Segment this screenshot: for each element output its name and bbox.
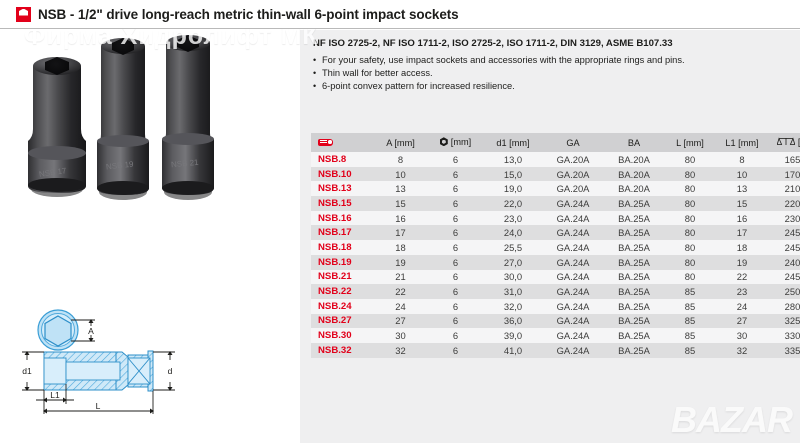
cell-ba: BA.20A [603,167,665,182]
cell-weight: 230 [769,211,800,226]
cell-a: 18 [373,240,428,255]
cell-a: 24 [373,299,428,314]
cell-hex: 6 [428,255,483,270]
page-title: NSB - 1/2" drive long-reach metric thin-… [38,7,459,22]
cell-a: 32 [373,343,428,358]
cell-a: 22 [373,284,428,299]
cell-d1: 24,0 [483,225,543,240]
column-header-hex: [mm] [428,133,483,152]
cell-l1: 30 [715,328,769,343]
cell-ba: BA.25A [603,299,665,314]
cell-a: 8 [373,152,428,167]
cell-weight: 245 [769,240,800,255]
cell-l: 85 [665,314,715,329]
cell-hex: 6 [428,299,483,314]
feature-list: For your safety, use impact sockets and … [313,54,793,94]
cell-l: 80 [665,270,715,285]
cell-d1: 31,0 [483,284,543,299]
cell-ga: GA.24A [543,255,603,270]
cell-l1: 15 [715,196,769,211]
cell-ga: GA.24A [543,299,603,314]
cell-a: 13 [373,181,428,196]
feature-item: For your safety, use impact sockets and … [313,54,793,67]
table-row[interactable]: NSB.88613,0GA.20ABA.20A808165 [311,152,800,167]
cell-reference: NSB.15 [311,196,373,211]
cell-l1: 32 [715,343,769,358]
table-row[interactable]: NSB.2727636,0GA.24ABA.25A8527325 [311,314,800,329]
cell-l1: 18 [715,240,769,255]
cell-hex: 6 [428,343,483,358]
cell-a: 16 [373,211,428,226]
cell-d1: 13,0 [483,152,543,167]
cell-weight: 245 [769,225,800,240]
cell-ba: BA.25A [603,211,665,226]
table-row[interactable]: NSB.2121630,0GA.24ABA.25A8022245 [311,270,800,285]
cell-l: 85 [665,299,715,314]
cell-ga: GA.24A [543,225,603,240]
column-header-l1: L1 [mm] [715,133,769,152]
cell-reference: NSB.32 [311,343,373,358]
cell-weight: 165 [769,152,800,167]
cell-reference: NSB.13 [311,181,373,196]
cell-ga: GA.24A [543,211,603,226]
table-row[interactable]: NSB.1616623,0GA.24ABA.25A8016230 [311,211,800,226]
specification-table: A [mm] [mm] d1 [mm] GA BA L [mm] L1 [mm] [311,133,800,358]
cell-d1: 25,5 [483,240,543,255]
cell-ga: GA.24A [543,328,603,343]
cell-ba: BA.25A [603,225,665,240]
cell-weight: 240 [769,255,800,270]
cell-hex: 6 [428,240,483,255]
column-header-hex-label: [mm] [451,137,471,147]
cell-weight: 210 [769,181,800,196]
table-header-row: A [mm] [mm] d1 [mm] GA BA L [mm] L1 [mm] [311,133,800,152]
cell-l1: 27 [715,314,769,329]
product-photo: NSB 17 NSB 19 NSB 21 [0,29,300,229]
cell-hex: 6 [428,314,483,329]
weight-scale-icon [777,137,795,146]
table-row[interactable]: NSB.1919627,0GA.24ABA.25A8019240 [311,255,800,270]
cell-ba: BA.20A [603,152,665,167]
cell-l: 85 [665,328,715,343]
cell-reference: NSB.30 [311,328,373,343]
dimension-diagram: A d1 [0,300,300,420]
cell-l: 80 [665,240,715,255]
cell-ga: GA.24A [543,343,603,358]
cell-l1: 17 [715,225,769,240]
cell-reference: NSB.10 [311,167,373,182]
cell-ba: BA.20A [603,181,665,196]
table-row[interactable]: NSB.2222631,0GA.24ABA.25A8523250 [311,284,800,299]
feature-item: Thin wall for better access. [313,67,793,80]
cell-ba: BA.25A [603,196,665,211]
column-header-weight: [g] [769,133,800,152]
title-bar: NSB - 1/2" drive long-reach metric thin-… [0,0,800,29]
column-header-l: L [mm] [665,133,715,152]
cell-ba: BA.25A [603,255,665,270]
cell-hex: 6 [428,270,483,285]
cell-l1: 22 [715,270,769,285]
cell-weight: 250 [769,284,800,299]
cell-weight: 220 [769,196,800,211]
table-row[interactable]: NSB.2424632,0GA.24ABA.25A8524280 [311,299,800,314]
dimension-label-d1: d1 [22,366,32,376]
cell-hex: 6 [428,152,483,167]
cell-ga: GA.20A [543,152,603,167]
cell-ga: GA.20A [543,167,603,182]
socket-photo-2: NSB 19 [97,38,149,200]
column-header-d1: d1 [mm] [483,133,543,152]
dimension-label-L1: L1 [50,390,60,400]
cell-d1: 30,0 [483,270,543,285]
cell-ba: BA.25A [603,314,665,329]
cell-l: 80 [665,211,715,226]
catalog-page: NSB - 1/2" drive long-reach metric thin-… [0,0,800,443]
cell-hex: 6 [428,196,483,211]
cell-ga: GA.20A [543,181,603,196]
table-row[interactable]: NSB.1515622,0GA.24ABA.25A8015220 [311,196,800,211]
cell-ga: GA.24A [543,196,603,211]
cell-l: 80 [665,225,715,240]
cell-l: 80 [665,255,715,270]
cell-ga: GA.24A [543,284,603,299]
cell-reference: NSB.19 [311,255,373,270]
cell-reference: NSB.27 [311,314,373,329]
column-header-ga: GA [543,133,603,152]
socket-reference-icon [318,139,333,146]
table-row[interactable]: NSB.1717624,0GA.24ABA.25A8017245 [311,225,800,240]
cell-weight: 335 [769,343,800,358]
cell-l: 80 [665,181,715,196]
cell-l: 80 [665,196,715,211]
cell-d1: 32,0 [483,299,543,314]
cell-d1: 41,0 [483,343,543,358]
cell-d1: 19,0 [483,181,543,196]
cell-l: 80 [665,152,715,167]
cell-a: 30 [373,328,428,343]
socket-photo-1: NSB 17 [28,57,86,197]
table-row[interactable]: NSB.3232641,0GA.24ABA.25A8532335 [311,343,800,358]
dimension-label-L: L [96,401,101,411]
socket-section-view [44,351,153,391]
dimension-label-d: d [168,366,173,376]
cell-weight: 280 [769,299,800,314]
cell-weight: 325 [769,314,800,329]
cell-d1: 22,0 [483,196,543,211]
cell-ba: BA.25A [603,240,665,255]
cell-d1: 36,0 [483,314,543,329]
cell-ga: GA.24A [543,270,603,285]
facom-square-logo-icon [16,7,31,22]
cell-ga: GA.24A [543,240,603,255]
cell-l1: 10 [715,167,769,182]
cell-reference: NSB.24 [311,299,373,314]
column-header-reference [311,133,373,152]
cell-reference: NSB.18 [311,240,373,255]
specification-panel: NF ISO 2725-2, NF ISO 1711-2, ISO 2725-2… [300,30,800,443]
socket-photo-3: NSB 21 [162,35,214,200]
column-header-a: A [mm] [373,133,428,152]
cell-reference: NSB.17 [311,225,373,240]
cell-ba: BA.25A [603,343,665,358]
hex-end-view [38,310,78,350]
cell-a: 17 [373,225,428,240]
cell-ga: GA.24A [543,314,603,329]
dimension-label-A: A [88,326,94,336]
cell-ba: BA.25A [603,328,665,343]
cell-weight: 330 [769,328,800,343]
feature-item: 6-point convex pattern for increased res… [313,80,793,93]
cell-l1: 19 [715,255,769,270]
cell-l: 85 [665,343,715,358]
cell-d1: 15,0 [483,167,543,182]
cell-l1: 23 [715,284,769,299]
cell-reference: NSB.21 [311,270,373,285]
cell-d1: 23,0 [483,211,543,226]
cell-weight: 245 [769,270,800,285]
cell-hex: 6 [428,181,483,196]
standards-line: NF ISO 2725-2, NF ISO 1711-2, ISO 2725-2… [313,38,793,49]
table-row[interactable]: NSB.1010615,0GA.20ABA.20A8010170 [311,167,800,182]
cell-a: 27 [373,314,428,329]
cell-l: 85 [665,284,715,299]
column-header-ba: BA [603,133,665,152]
cell-hex: 6 [428,211,483,226]
cell-a: 19 [373,255,428,270]
cell-hex: 6 [428,284,483,299]
cell-hex: 6 [428,225,483,240]
cell-ba: BA.25A [603,270,665,285]
table-row[interactable]: NSB.1313619,0GA.20ABA.20A8013210 [311,181,800,196]
cell-reference: NSB.8 [311,152,373,167]
hexagon-drive-icon [440,137,448,146]
table-row[interactable]: NSB.1818625,5GA.24ABA.25A8018245 [311,240,800,255]
cell-l1: 16 [715,211,769,226]
cell-a: 10 [373,167,428,182]
cell-a: 21 [373,270,428,285]
cell-d1: 27,0 [483,255,543,270]
table-row[interactable]: NSB.3030639,0GA.24ABA.25A8530330 [311,328,800,343]
cell-l1: 13 [715,181,769,196]
cell-hex: 6 [428,328,483,343]
cell-a: 15 [373,196,428,211]
cell-l1: 24 [715,299,769,314]
cell-weight: 170 [769,167,800,182]
cell-hex: 6 [428,167,483,182]
cell-ba: BA.25A [603,284,665,299]
cell-l1: 8 [715,152,769,167]
cell-reference: NSB.16 [311,211,373,226]
cell-l: 80 [665,167,715,182]
cell-reference: NSB.22 [311,284,373,299]
cell-d1: 39,0 [483,328,543,343]
specification-table-body: NSB.88613,0GA.20ABA.20A808165NSB.1010615… [311,152,800,358]
